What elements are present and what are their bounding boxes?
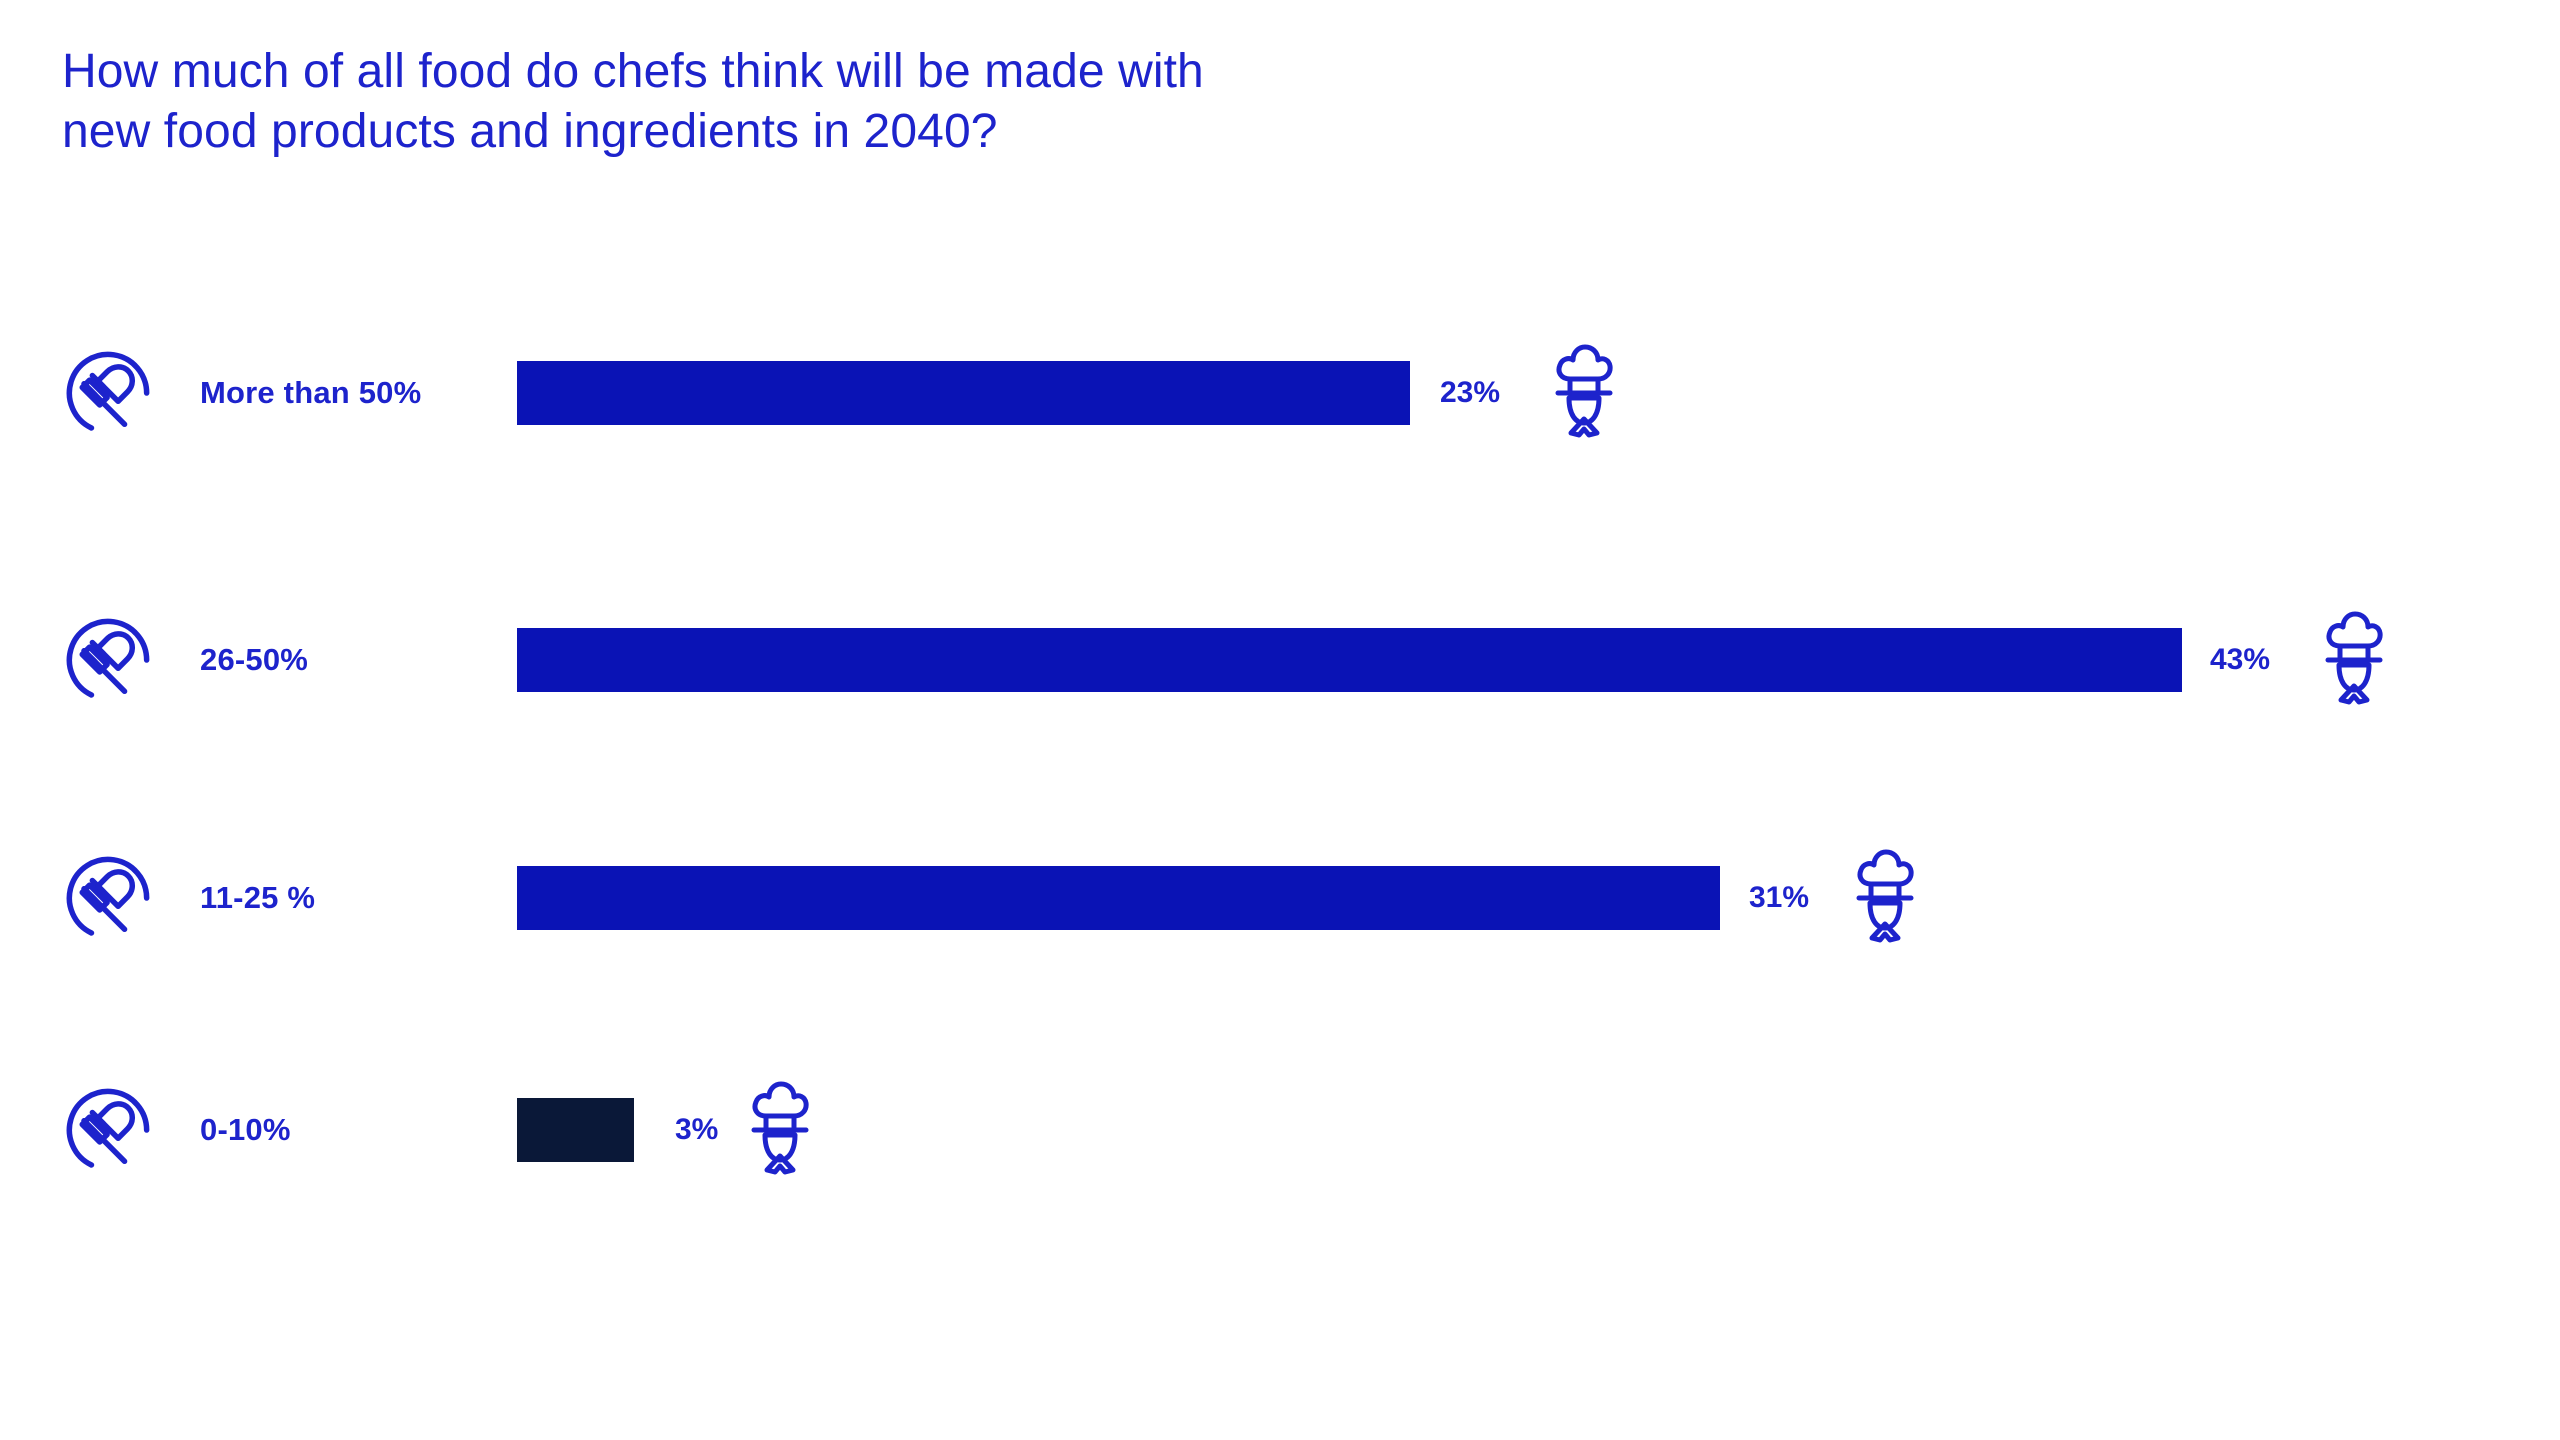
bar-fill (517, 361, 1410, 425)
crossed-cutlery-in-circle-icon (62, 1084, 154, 1176)
bar-track: 23% (517, 361, 2497, 425)
infographic-root: How much of all food do chefs think will… (0, 0, 2560, 1440)
chef-hat-icon (2323, 610, 2383, 710)
bar-track: 43% (517, 628, 2497, 692)
category-label: 0-10% (200, 1112, 291, 1148)
bar-track: 31% (517, 866, 2497, 930)
bar-value-label: 43% (2210, 643, 2270, 677)
chart-row: 0-10% 3% (0, 1065, 2560, 1195)
bar-chart: More than 50% 23% (0, 0, 2560, 1440)
bar-value-label: 31% (1749, 881, 1809, 915)
category-label: 11-25 % (200, 880, 315, 916)
bar-fill (517, 866, 1720, 930)
chef-hat-icon (1553, 343, 1613, 443)
bar-track: 3% (517, 1098, 2497, 1162)
bar-fill (517, 1098, 634, 1162)
category-label: 26-50% (200, 642, 308, 678)
chart-row: 26-50% 43% (0, 595, 2560, 725)
bar-value-label: 3% (675, 1113, 718, 1147)
crossed-cutlery-in-circle-icon (62, 852, 154, 944)
crossed-cutlery-in-circle-icon (62, 614, 154, 706)
chart-row: 11-25 % 31% (0, 833, 2560, 963)
chart-row: More than 50% 23% (0, 328, 2560, 458)
chef-hat-icon (1854, 848, 1914, 948)
crossed-cutlery-in-circle-icon (62, 347, 154, 439)
bar-value-label: 23% (1440, 376, 1500, 410)
category-label: More than 50% (200, 375, 421, 411)
chef-hat-icon (749, 1080, 809, 1180)
bar-fill (517, 628, 2182, 692)
